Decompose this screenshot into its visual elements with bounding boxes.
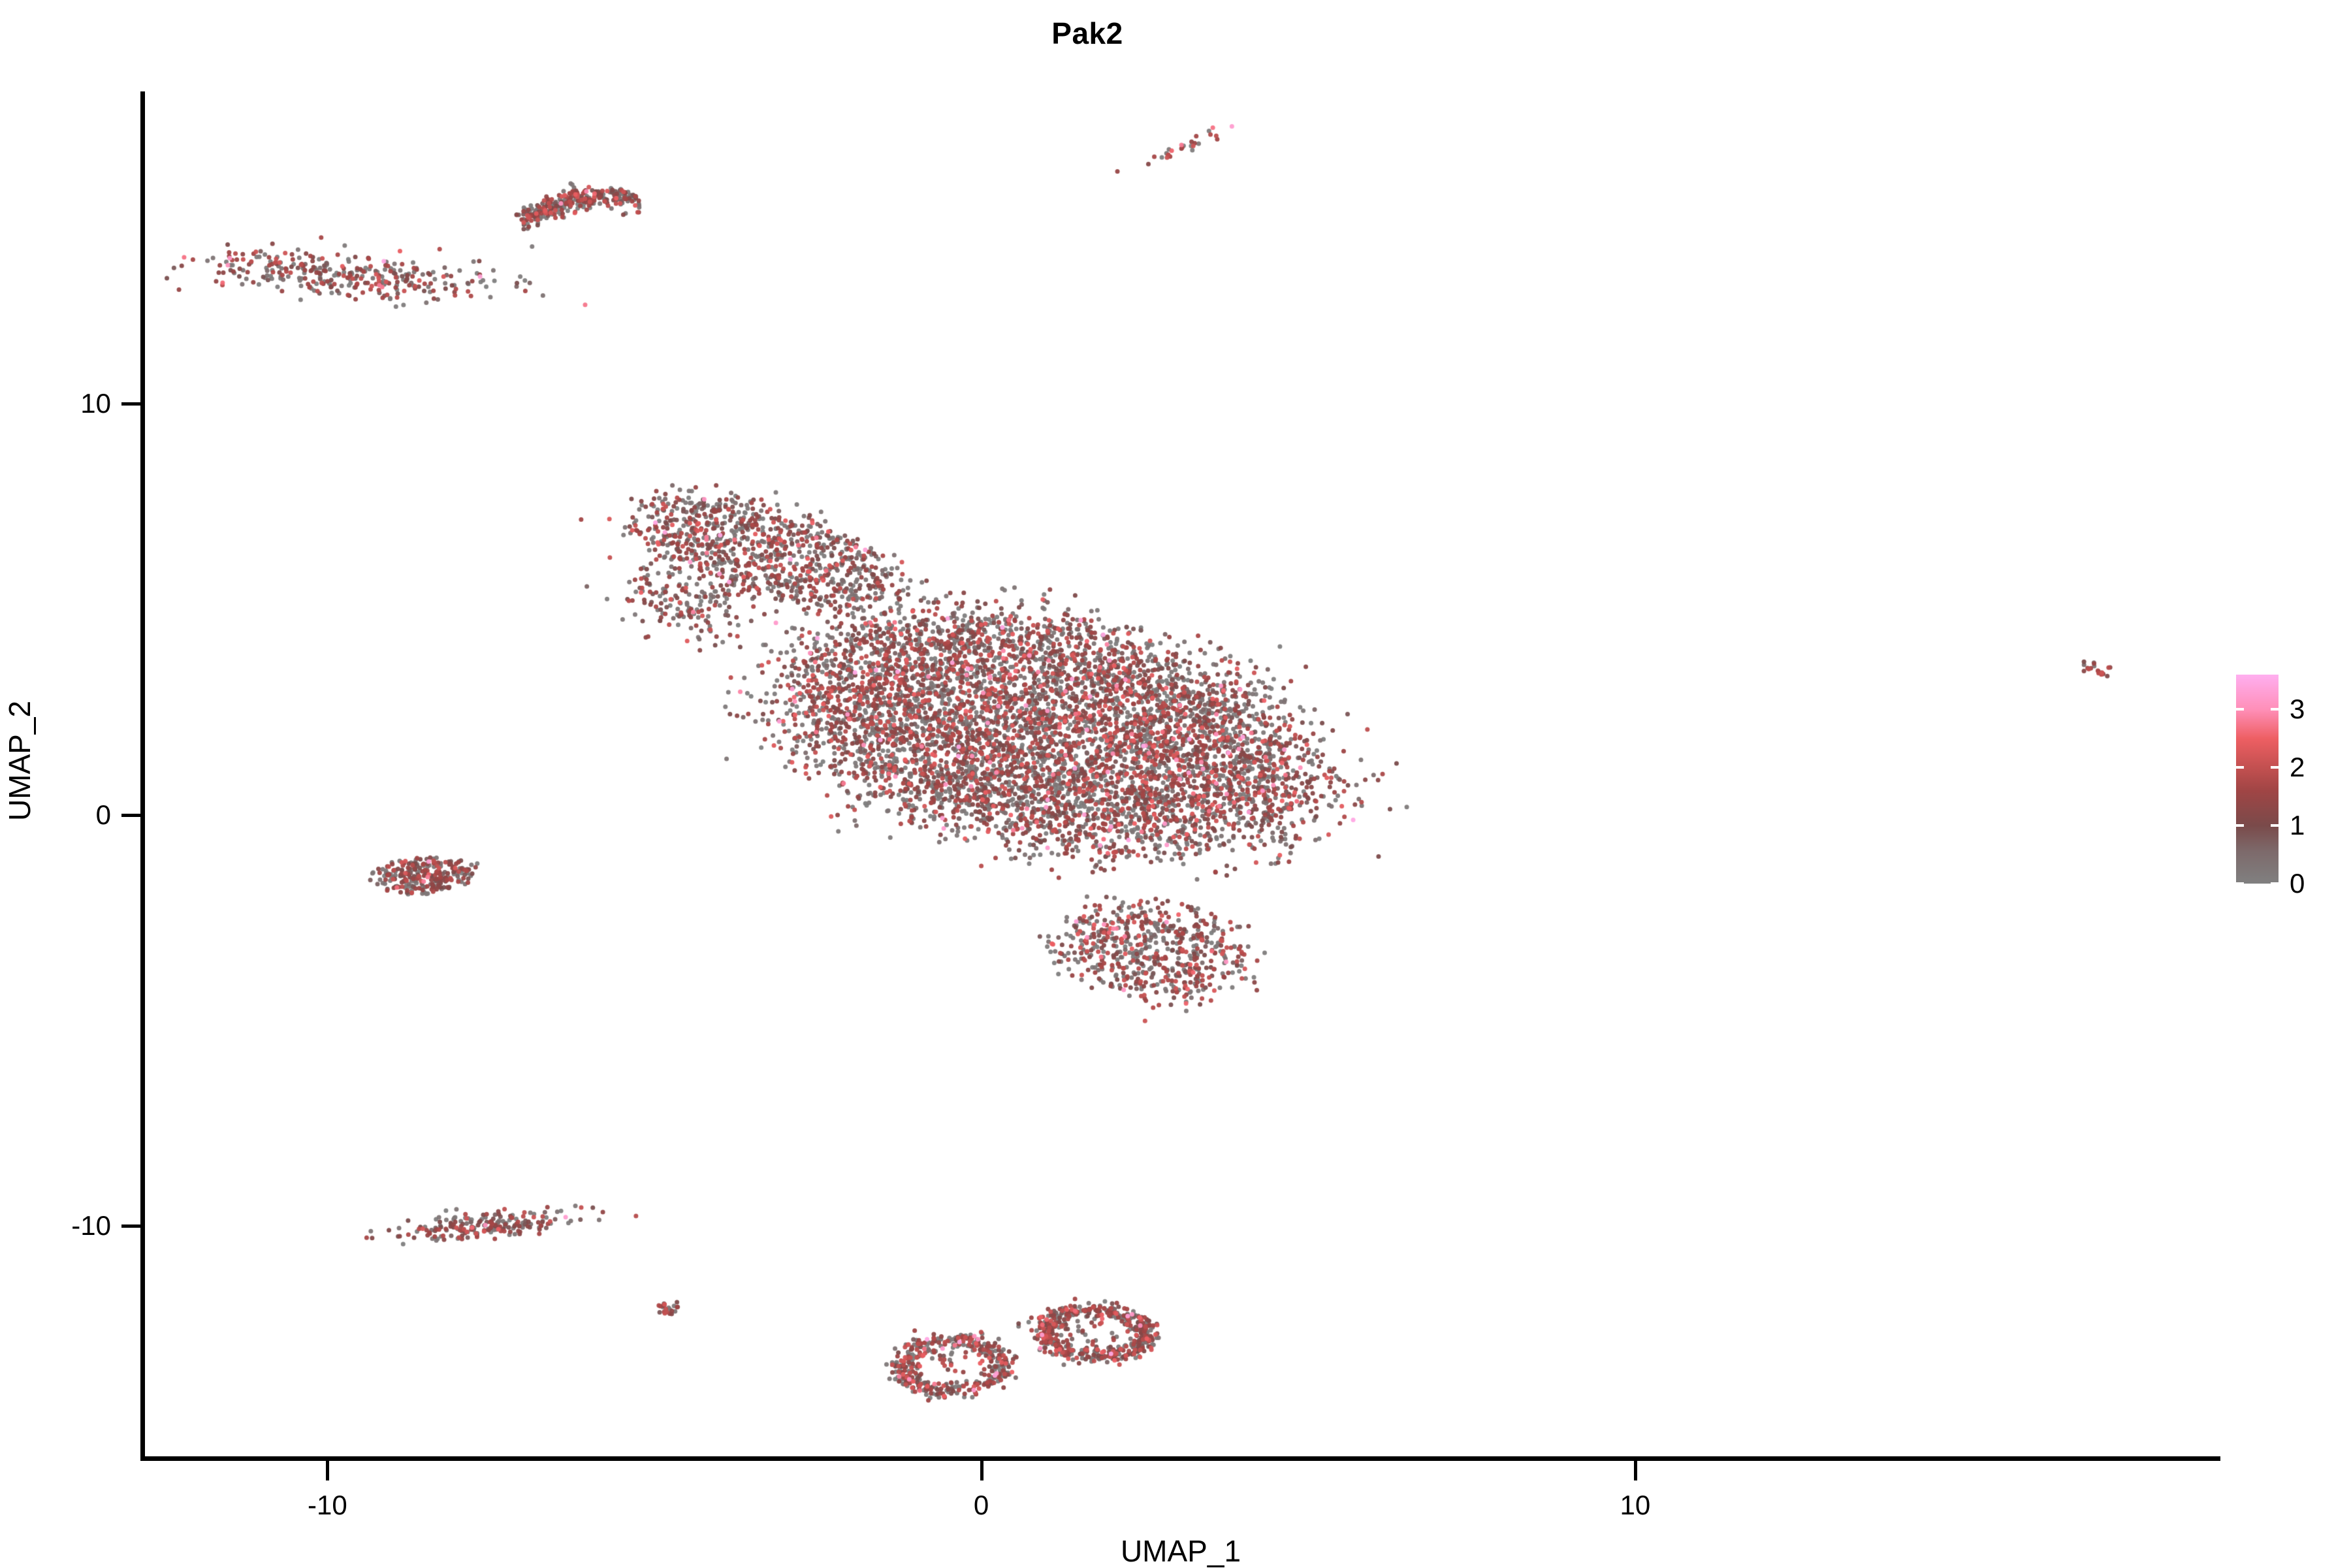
x-tick-label: 0	[903, 1492, 1060, 1519]
x-tick-label: -10	[249, 1492, 406, 1519]
y-tick-label: 10	[0, 390, 111, 417]
colorbar-tick-mark	[2236, 882, 2244, 885]
colorbar-tick-mark	[2236, 708, 2244, 711]
y-axis-line	[140, 91, 145, 1460]
colorbar-tick-mark	[2271, 882, 2279, 885]
x-tick-label: 10	[1557, 1492, 1714, 1519]
colorbar-tick-label: 3	[2290, 696, 2335, 723]
colorbar-tick-label: 2	[2290, 754, 2335, 781]
colorbar-tick-label: 0	[2290, 870, 2335, 897]
plot-panel	[144, 91, 2217, 1456]
y-axis-title: UMAP_2	[3, 532, 36, 989]
x-tick-mark	[1634, 1461, 1637, 1480]
x-axis-line	[140, 1456, 2220, 1461]
x-tick-mark	[326, 1461, 329, 1480]
legend-colorbar: 0123	[2236, 675, 2334, 884]
y-tick-mark	[121, 1224, 141, 1228]
scatter-canvas	[144, 91, 2217, 1456]
umap-feature-plot: Pak2 -10010 -10010 UMAP_1 UMAP_2 0123	[0, 0, 2351, 1567]
colorbar-tick-mark	[2271, 766, 2279, 769]
colorbar-tick-mark	[2271, 824, 2279, 827]
colorbar-tick-mark	[2271, 708, 2279, 711]
x-tick-mark	[980, 1461, 984, 1480]
page-title: Pak2	[0, 14, 2175, 52]
y-tick-label: -10	[0, 1212, 111, 1240]
y-tick-mark	[121, 402, 141, 406]
colorbar-tick-label: 1	[2290, 812, 2335, 839]
colorbar-tick-mark	[2236, 824, 2244, 827]
colorbar-gradient	[2236, 675, 2279, 884]
y-tick-mark	[121, 814, 141, 817]
colorbar-tick-mark	[2236, 766, 2244, 769]
x-axis-title: UMAP_1	[144, 1535, 2217, 1567]
